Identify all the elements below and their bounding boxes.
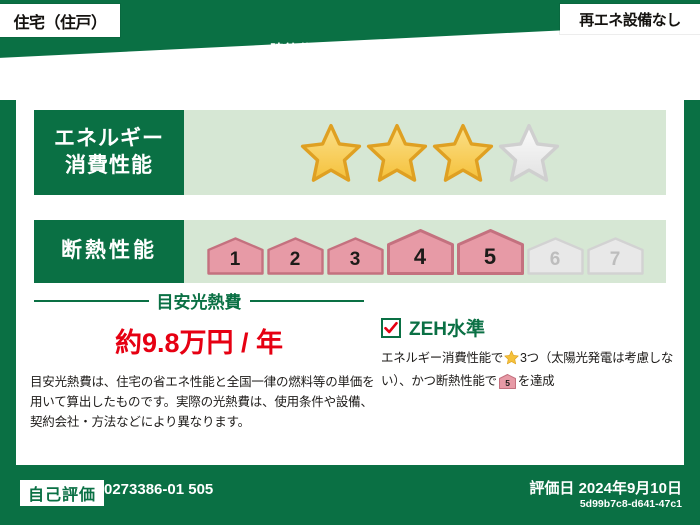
checkbox-checked-icon: [381, 318, 401, 338]
star-icon: [504, 354, 519, 368]
energy-performance-label-line2: 消費性能: [65, 153, 153, 179]
insulation-level-6: 6: [527, 229, 584, 275]
insulation-level-value: 3: [350, 250, 361, 275]
insulation-level-3: 3: [327, 229, 384, 275]
energy-performance-label: 住宅（住戸） 再エネ設備なし 建築物省エネ法に基づく 省エネ性能ラベル エネルギ…: [0, 0, 700, 525]
insulation-level-value: 5: [484, 246, 496, 275]
cost-note: 目安光熱費は、住宅の省エネ性能と全国一律の燃料等の単価を用いて算出したものです。…: [30, 372, 378, 432]
energy-performance-body: [184, 110, 666, 195]
star-filled-icon: [300, 122, 362, 184]
cost-rule-left: [34, 300, 149, 302]
insulation-level-value: 7: [610, 250, 621, 275]
insulation-level-value: 2: [290, 250, 301, 275]
insulation-level-value: 4: [414, 246, 426, 275]
building-type-tag: 住宅（住戸）: [0, 4, 120, 37]
zeh-heading: ZEH水準: [381, 314, 676, 341]
label-footer: 自己評価 0273386-01 505 評価日 2024年9月10日 5d99b…: [0, 465, 700, 525]
star-filled-icon: [432, 122, 494, 184]
cost-rule-right: [250, 300, 365, 302]
evaluation-type-badge: 自己評価: [20, 480, 104, 506]
insulation-performance-body: 1234567: [184, 220, 666, 283]
insulation-performance-label-text: 断熱性能: [61, 238, 157, 264]
zeh-note-part3: を達成: [518, 374, 555, 388]
label-title: 建築物省エネ法に基づく 省エネ性能ラベル: [0, 40, 700, 96]
cost-title: 目安光熱費: [157, 288, 242, 313]
estimated-utility-cost: 目安光熱費 約9.8万円 / 年: [34, 288, 364, 360]
label-subtitle: 建築物省エネ法に基づく: [0, 40, 700, 60]
renewable-equipment-tag: 再エネ設備なし: [560, 4, 700, 34]
insulation-level-7: 7: [587, 229, 644, 275]
zeh-note-part1: エネルギー消費性能で: [381, 351, 503, 365]
label-main-title: 省エネ性能ラベル: [0, 60, 700, 96]
star-empty-icon: [498, 122, 560, 184]
evaluation-date: 評価日 2024年9月10日: [529, 477, 682, 498]
insulation-level-5: 5: [457, 229, 524, 275]
cost-heading: 目安光熱費: [34, 288, 364, 313]
zeh-note: エネルギー消費性能で3つ（太陽光発電は考慮しない）、かつ断熱性能で5を達成: [381, 348, 676, 395]
zeh-standard-block: ZEH水準 エネルギー消費性能で3つ（太陽光発電は考慮しない）、かつ断熱性能で5…: [381, 314, 676, 395]
zeh-title: ZEH水準: [409, 314, 485, 341]
insulation-level-1: 1: [207, 229, 264, 275]
star-filled-icon: [366, 122, 428, 184]
insulation-performance-label: 断熱性能: [34, 220, 184, 283]
insulation-level-2: 2: [267, 229, 324, 275]
insulation-level-value: 1: [230, 250, 241, 275]
star-rating: [300, 122, 560, 184]
energy-performance-row: エネルギー 消費性能: [34, 110, 666, 195]
energy-performance-label: エネルギー 消費性能: [34, 110, 184, 195]
cost-value: 約9.8万円 / 年: [34, 321, 364, 360]
insulation-level-4: 4: [387, 229, 454, 275]
evaluation-number: 0273386-01 505: [104, 481, 213, 498]
insulation-level-scale: 1234567: [207, 229, 644, 275]
insulation-performance-row: 断熱性能 1234567: [34, 220, 666, 283]
energy-performance-label-line1: エネルギー: [54, 126, 164, 152]
house-icon: 5: [499, 374, 516, 395]
house-icon-value: 5: [505, 378, 510, 388]
evaluation-hash: 5d99b7c8-d641-47c1: [580, 498, 682, 510]
insulation-level-value: 6: [550, 250, 561, 275]
